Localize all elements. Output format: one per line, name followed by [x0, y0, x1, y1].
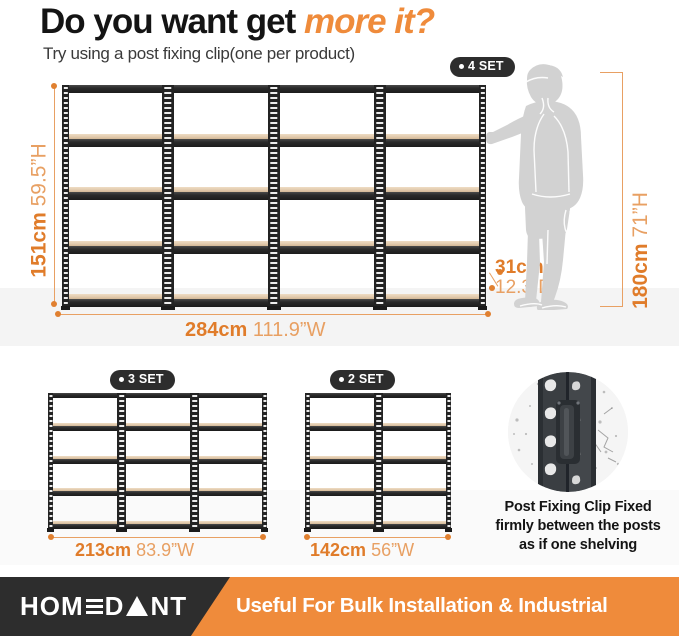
post-perforation-icon: [263, 395, 266, 527]
shelf-foot: [47, 528, 54, 532]
measure-dot: [51, 83, 57, 89]
shelf-post: [268, 85, 280, 307]
measure-dot: [51, 301, 57, 307]
shelf-post: [117, 393, 126, 529]
shelving-rack-3set: [48, 393, 267, 529]
dimension-value-cm: 213cm: [75, 540, 131, 560]
footer-bar: HOM D NT Useful For Bulk Installation & …: [0, 577, 679, 636]
shelf-post: [62, 85, 69, 307]
measure-line-3set-width: [52, 537, 263, 538]
shelf-post: [190, 393, 199, 529]
post-perforation-icon: [376, 87, 383, 305]
shelf-foot: [161, 306, 175, 310]
post-perforation-icon: [306, 395, 309, 527]
measure-line-height-left: [54, 86, 55, 304]
dimension-2set-width: 142cm 56”W: [310, 541, 414, 559]
dimension-main-height: 151cm 59.5”H: [29, 143, 50, 277]
brand-a-triangle-icon: [126, 596, 148, 616]
brand-e-glyph-icon: [85, 596, 104, 616]
post-perforation-icon: [480, 87, 484, 305]
badge-label: 3 SET: [128, 373, 164, 386]
clip-caption: Post Fixing Clip Fixed firmly between th…: [478, 498, 678, 555]
shelving-rack-2set: [305, 393, 451, 529]
measure-dot: [445, 534, 451, 540]
brand-text-3: NT: [150, 593, 187, 619]
dimension-value-cm: 180cm: [629, 243, 652, 308]
measure-line-width-bottom: [58, 314, 488, 315]
clip-photo-circle: [508, 372, 628, 492]
shelf-foot: [373, 306, 387, 310]
measure-dot: [48, 534, 54, 540]
badge-dot-icon: [119, 377, 124, 382]
footer-tagline: Useful For Bulk Installation & Industria…: [236, 594, 608, 618]
dimension-value-cm: 151cm: [28, 212, 51, 277]
post-perforation-icon: [49, 395, 52, 527]
shelving-rack-4set: [62, 85, 486, 307]
brand-text-1: HOM: [20, 593, 84, 619]
measure-dot: [485, 311, 491, 317]
badge-dot-icon: [459, 64, 464, 69]
badge-label: 2 SET: [348, 373, 384, 386]
shelf-foot: [116, 528, 127, 532]
badge-dot-icon: [339, 377, 344, 382]
post-perforation-icon: [164, 87, 171, 305]
badge-3set: 3 SET: [110, 370, 175, 390]
badge-2set: 2 SET: [330, 370, 395, 390]
shelf-beam: [48, 524, 267, 529]
shelf-foot: [189, 528, 200, 532]
page-subtitle: Try using a post fixing clip(one per pro…: [43, 44, 355, 64]
shelf-foot: [61, 306, 70, 310]
shelf-post: [446, 393, 451, 529]
dimension-value-in: 71”H: [629, 192, 652, 238]
dimension-value-in: 83.9”W: [136, 540, 194, 560]
post-perforation-icon: [63, 87, 67, 305]
measure-dot: [55, 311, 61, 317]
shelf-beam: [48, 426, 267, 431]
dimension-3set-width: 213cm 83.9”W: [75, 541, 194, 559]
clip-caption-line2: firmly between the posts: [478, 517, 678, 536]
shelf-beam: [48, 393, 267, 398]
post-perforation-icon: [447, 395, 450, 527]
dimension-value-in: 56”W: [371, 540, 414, 560]
measure-line-2set-width: [308, 537, 448, 538]
shelf-post: [305, 393, 310, 529]
shelf-post: [48, 393, 53, 529]
dimension-value-in: 59.5”H: [28, 143, 51, 206]
measure-line-height-right: [622, 72, 623, 306]
dimension-value-in: 111.9”W: [253, 319, 326, 341]
dimension-person-height: 180cm 71”H: [630, 192, 651, 309]
post-perforation-icon: [119, 395, 125, 527]
post-perforation-icon: [376, 395, 382, 527]
measure-dot: [260, 534, 266, 540]
person-icon: [486, 62, 611, 310]
dimension-value-cm: 142cm: [310, 540, 366, 560]
dimension-value-cm: 284cm: [185, 319, 247, 341]
shelf-post: [262, 393, 267, 529]
shelf-foot: [445, 528, 452, 532]
shelf-post: [374, 85, 386, 307]
shelf-post: [162, 85, 174, 307]
shelf-foot: [261, 528, 268, 532]
page-title: Do you want get more it?: [40, 2, 434, 42]
shelf-beam: [48, 459, 267, 464]
brand-logo: HOM D NT: [20, 593, 187, 619]
shelf-post: [374, 393, 383, 529]
brand-text-2: D: [105, 593, 125, 619]
post-fixing-clip-photo: [508, 372, 648, 492]
shelf-foot: [304, 528, 311, 532]
shelf-foot: [373, 528, 384, 532]
clip-caption-line1: Post Fixing Clip Fixed: [478, 498, 678, 517]
shelf-post: [479, 85, 486, 307]
person-silhouette: [486, 62, 611, 310]
page-title-accent: more it?: [304, 2, 434, 41]
infographic-canvas: Do you want get more it? Try using a pos…: [0, 0, 679, 636]
post-perforation-icon: [192, 395, 198, 527]
shelf-foot: [267, 306, 281, 310]
post-perforation-icon: [270, 87, 277, 305]
page-title-main: Do you want get: [40, 2, 304, 41]
dimension-main-width: 284cm 111.9”W: [185, 320, 325, 340]
shelf-beam: [48, 491, 267, 496]
clip-closeup-icon: [508, 372, 628, 492]
clip-caption-line3: as if one shelving: [478, 536, 678, 555]
